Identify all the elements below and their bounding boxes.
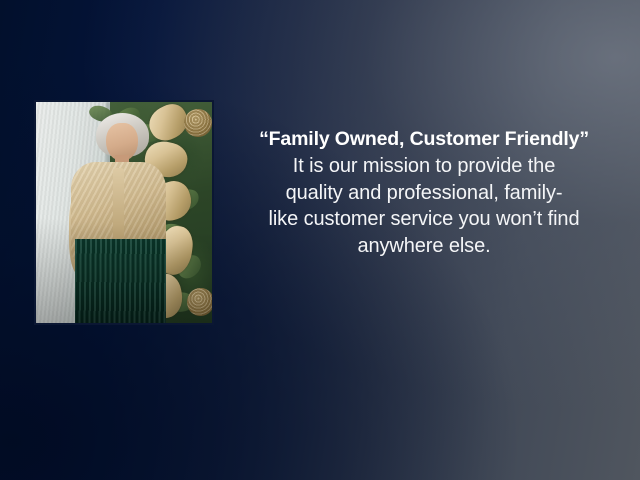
photo-scene	[36, 102, 212, 323]
quote-text-block: “Family Owned, Customer Friendly” It is …	[222, 126, 626, 259]
body-line-1: It is our mission to provide the	[222, 153, 626, 180]
promo-slide: “Family Owned, Customer Friendly” It is …	[0, 0, 640, 480]
portrait-photo	[34, 100, 214, 325]
headline: “Family Owned, Customer Friendly”	[222, 126, 626, 152]
photo-shading-overlay	[36, 102, 212, 323]
body-line-2: quality and professional, family-	[222, 180, 626, 207]
body-line-3: like customer service you won’t find	[222, 206, 626, 233]
body-line-4: anywhere else.	[222, 233, 626, 260]
